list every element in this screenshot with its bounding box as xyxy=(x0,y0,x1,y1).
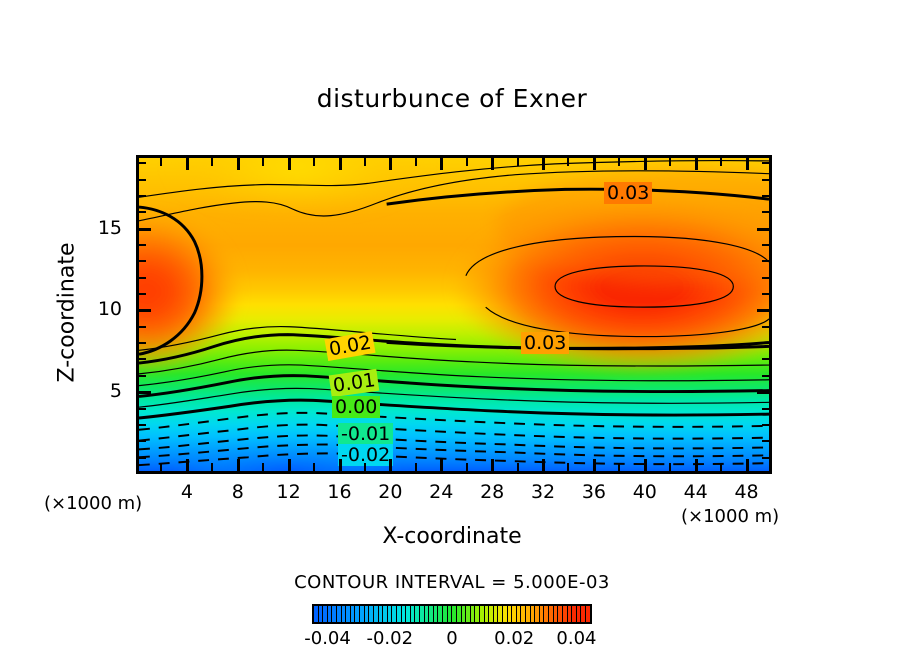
x-axis-unit: (×1000 m) xyxy=(681,506,779,527)
z-axis-tick-right xyxy=(762,195,770,197)
x-axis-tick-bottom xyxy=(262,463,264,472)
z-axis-tick-right xyxy=(762,326,770,328)
x-axis-tick-top xyxy=(593,157,596,170)
z-axis-tick-left xyxy=(138,326,146,328)
x-axis-tick-bottom xyxy=(440,459,443,472)
z-axis-tick-left xyxy=(138,424,146,426)
z-axis-tick-right xyxy=(762,260,770,262)
x-axis-tick-top xyxy=(669,157,671,166)
colorbar-tick-label: -0.04 xyxy=(298,628,358,649)
x-axis-tick-top xyxy=(364,157,366,166)
x-axis-title: X-coordinate xyxy=(0,524,904,549)
z-axis-tick-left xyxy=(138,162,146,164)
z-axis-tick-right xyxy=(762,179,770,181)
x-axis-tick-bottom xyxy=(567,463,569,472)
z-axis-tick-right xyxy=(762,277,770,279)
colorbar-swatch xyxy=(586,606,590,622)
x-axis-tick-bottom xyxy=(313,463,315,472)
z-axis-tick-left xyxy=(138,195,146,197)
z-axis-tick-left xyxy=(138,211,146,213)
z-axis-tick-left xyxy=(138,342,146,344)
page-title: disturbunce of Exner xyxy=(0,84,904,113)
z-axis-tick-right xyxy=(762,211,770,213)
x-axis-tick-top xyxy=(160,157,162,166)
x-axis-tick-bottom xyxy=(211,463,213,472)
z-axis-tick-left xyxy=(138,244,146,246)
z-axis-tick-right xyxy=(762,424,770,426)
x-axis-tick-top xyxy=(491,157,494,170)
contour-lines xyxy=(139,158,769,471)
z-axis-tick-right xyxy=(757,228,770,231)
colorbar-tick-label: -0.02 xyxy=(360,628,420,649)
contour-label: -0.01 xyxy=(338,423,393,445)
x-axis-tick-bottom xyxy=(720,463,722,472)
x-axis-tick-top xyxy=(339,157,342,170)
z-axis-tick-right xyxy=(762,244,770,246)
contour-plot xyxy=(136,155,772,474)
z-axis-tick-left xyxy=(138,391,151,394)
x-axis-tick-bottom xyxy=(746,459,749,472)
x-axis-tick-bottom xyxy=(288,459,291,472)
z-axis-tick-right xyxy=(762,408,770,410)
contour-label: 0.03 xyxy=(521,332,569,354)
x-axis-tick-bottom xyxy=(593,459,596,472)
x-axis-tick-bottom xyxy=(466,463,468,472)
x-axis-tick-top xyxy=(262,157,264,166)
z-axis-tick-right xyxy=(762,358,770,360)
z-axis-tick-left xyxy=(138,277,146,279)
z-axis-tick-right xyxy=(762,293,770,295)
x-axis-tick-top xyxy=(720,157,722,166)
x-axis-tick-top xyxy=(517,157,519,166)
z-axis-tick-right xyxy=(757,391,770,394)
y-axis-title: Z-coordinate xyxy=(55,208,80,418)
z-axis-tick-left xyxy=(138,228,151,231)
z-axis-tick-left xyxy=(138,358,146,360)
colorbar-tick-label: 0.04 xyxy=(546,628,606,649)
x-axis-tick-top xyxy=(186,157,189,170)
x-tick-label: 48 xyxy=(717,481,777,503)
contour-interval-text: CONTOUR INTERVAL = 5.000E-03 xyxy=(0,572,904,593)
x-axis-tick-top xyxy=(618,157,620,166)
contour-label: 0.00 xyxy=(332,396,380,418)
x-axis-tick-bottom xyxy=(364,463,366,472)
z-axis-tick-left xyxy=(138,309,151,312)
z-axis-tick-right xyxy=(762,375,770,377)
x-axis-tick-bottom xyxy=(339,459,342,472)
x-axis-tick-bottom xyxy=(186,459,189,472)
z-axis-tick-right xyxy=(762,457,770,459)
x-axis-tick-top xyxy=(746,157,749,170)
x-axis-tick-top xyxy=(567,157,569,166)
z-tick-label: 5 xyxy=(84,380,122,402)
x-axis-tick-bottom xyxy=(491,459,494,472)
x-axis-tick-bottom xyxy=(160,463,162,472)
x-axis-tick-bottom xyxy=(517,463,519,472)
x-axis-tick-top xyxy=(237,157,240,170)
x-axis-tick-top xyxy=(288,157,291,170)
x-axis-tick-top xyxy=(389,157,392,170)
z-axis-tick-left xyxy=(138,408,146,410)
z-axis-tick-left xyxy=(138,293,146,295)
x-axis-tick-top xyxy=(211,157,213,166)
x-axis-tick-bottom xyxy=(644,459,647,472)
z-axis-tick-right xyxy=(762,440,770,442)
colorbar xyxy=(312,604,592,624)
z-axis-tick-left xyxy=(138,440,146,442)
x-axis-tick-bottom xyxy=(415,463,417,472)
z-axis-tick-left xyxy=(138,179,146,181)
z-tick-label: 15 xyxy=(84,217,122,239)
z-axis-tick-left xyxy=(138,375,146,377)
x-axis-tick-bottom xyxy=(389,459,392,472)
x-axis-tick-bottom xyxy=(237,459,240,472)
y-axis-unit: (×1000 m) xyxy=(44,493,142,514)
z-axis-tick-right xyxy=(762,342,770,344)
colorbar-tick-labels: -0.04-0.0200.020.04 xyxy=(292,628,612,652)
z-axis-tick-left xyxy=(138,260,146,262)
contour-label: 0.03 xyxy=(604,182,652,204)
x-axis-tick-top xyxy=(415,157,417,166)
colorbar-tick-label: 0.02 xyxy=(484,628,544,649)
x-axis-tick-bottom xyxy=(669,463,671,472)
x-axis-tick-top xyxy=(695,157,698,170)
x-axis-tick-top xyxy=(466,157,468,166)
x-axis-tick-bottom xyxy=(542,459,545,472)
z-tick-label: 10 xyxy=(84,298,122,320)
colorbar-tick-label: 0 xyxy=(422,628,482,649)
x-axis-tick-top xyxy=(542,157,545,170)
x-axis-tick-top xyxy=(440,157,443,170)
z-axis-tick-left xyxy=(138,457,146,459)
x-axis-tick-bottom xyxy=(695,459,698,472)
z-axis-tick-right xyxy=(762,162,770,164)
x-axis-tick-top xyxy=(313,157,315,166)
x-axis-tick-top xyxy=(644,157,647,170)
x-axis-tick-bottom xyxy=(618,463,620,472)
z-axis-tick-right xyxy=(757,309,770,312)
